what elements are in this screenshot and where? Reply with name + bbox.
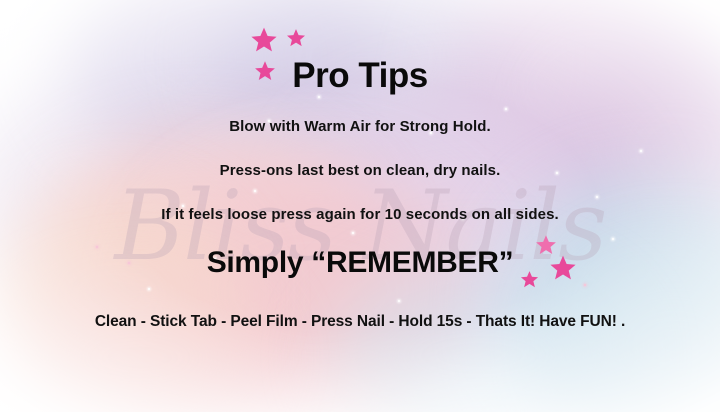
star-icon	[254, 60, 276, 82]
star-icon	[520, 270, 539, 289]
remember-row: Simply “REMEMBER”	[0, 248, 720, 278]
pro-tips-graphic: Bliss Nails Pro Tips Blow with Warm Air …	[0, 0, 720, 412]
steps-line: Clean - Stick Tab - Peel Film - Press Na…	[0, 313, 720, 331]
tip-line: Press-ons last best on clean, dry nails.	[0, 162, 720, 180]
remember-title: Simply “REMEMBER”	[207, 246, 514, 279]
page-title: Pro Tips	[292, 56, 427, 95]
star-icon	[250, 26, 278, 54]
tips-list: Blow with Warm Air for Strong Hold. Pres…	[0, 118, 720, 224]
star-icon	[549, 254, 577, 282]
tip-line: Blow with Warm Air for Strong Hold.	[0, 118, 720, 136]
star-icon	[535, 234, 557, 256]
star-icon	[286, 28, 306, 48]
content-layer: Pro Tips Blow with Warm Air for Strong H…	[0, 0, 720, 412]
tip-line: If it feels loose press again for 10 sec…	[0, 206, 720, 224]
heading-row: Pro Tips	[0, 58, 720, 93]
